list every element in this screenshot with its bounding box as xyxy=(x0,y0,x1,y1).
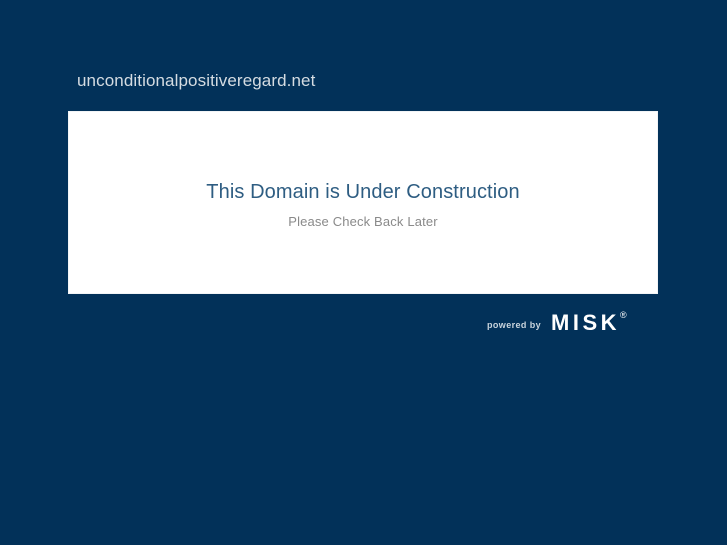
parked-domain-page: unconditionalpositiveregard.net This Dom… xyxy=(0,0,727,545)
domain-name-heading: unconditionalpositiveregard.net xyxy=(77,70,315,92)
misk-wordmark: MISK ® xyxy=(551,312,627,334)
misk-brand-text: MISK xyxy=(551,312,620,334)
powered-by-label: powered by xyxy=(487,320,541,334)
under-construction-headline: This Domain is Under Construction xyxy=(69,180,657,204)
registered-trademark-icon: ® xyxy=(620,311,627,320)
notice-card: This Domain is Under Construction Please… xyxy=(68,111,658,294)
check-back-later-subheading: Please Check Back Later xyxy=(69,213,657,231)
notice-card-content: This Domain is Under Construction Please… xyxy=(69,180,657,231)
misk-logo: powered by MISK ® xyxy=(487,310,627,334)
